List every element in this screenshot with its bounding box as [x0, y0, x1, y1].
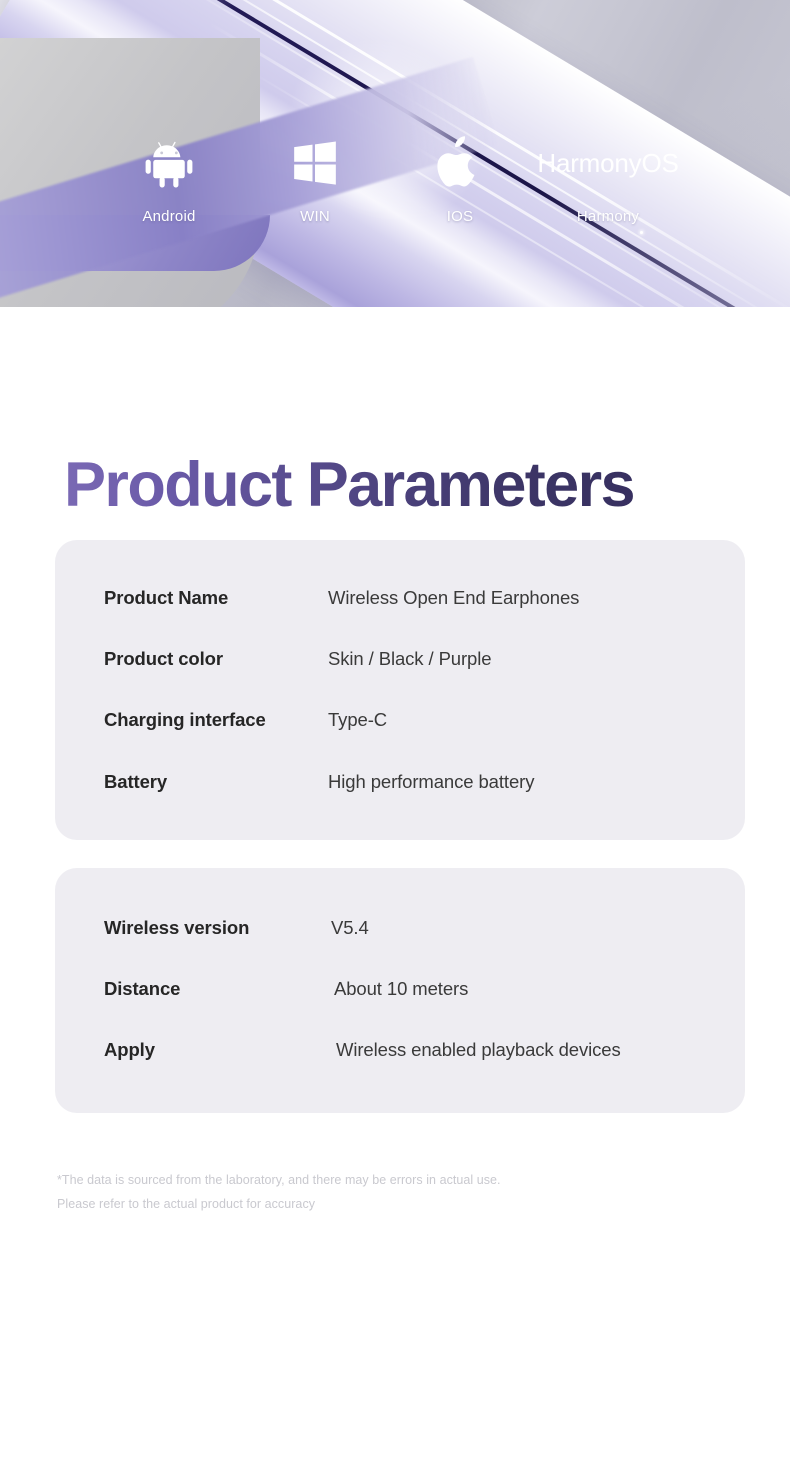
spec-card-primary: Product Name Wireless Open End Earphones… [55, 540, 745, 840]
spec-row: Charging interface Type-C [55, 706, 745, 734]
spec-value: About 10 meters [334, 978, 468, 1000]
spec-row: Apply Wireless enabled playback devices [55, 1036, 745, 1064]
spec-label: Distance [104, 978, 180, 1000]
spec-row: Battery High performance battery [55, 768, 745, 796]
spec-label: Product Name [104, 587, 228, 609]
spec-value: Wireless enabled playback devices [336, 1039, 621, 1061]
spec-card-secondary: Wireless version V5.4 Distance About 10 … [55, 868, 745, 1113]
os-item-ios: IOS [385, 132, 535, 225]
spec-value: High performance battery [328, 771, 534, 793]
os-item-harmony: HarmonyOS Harmony [533, 132, 683, 225]
spec-row: Product color Skin / Black / Purple [55, 645, 745, 673]
spec-row: Distance About 10 meters [55, 975, 745, 1003]
os-item-windows: WIN [240, 132, 390, 225]
os-label-android: Android [94, 208, 244, 225]
spec-label: Wireless version [104, 917, 249, 939]
spec-label: Apply [104, 1039, 155, 1061]
spec-label: Battery [104, 771, 167, 793]
android-icon [94, 132, 244, 194]
os-item-android: Android [94, 132, 244, 225]
os-label-harmony: Harmony [533, 208, 683, 225]
os-label-windows: WIN [240, 208, 390, 225]
spec-value: V5.4 [331, 917, 369, 939]
spec-row: Product Name Wireless Open End Earphones [55, 584, 745, 612]
spec-value: Type-C [328, 709, 387, 731]
harmonyos-wordmark-text: HarmonyOS [537, 148, 678, 179]
os-compatibility-row: Android WIN [0, 132, 790, 242]
spec-value: Wireless Open End Earphones [328, 587, 579, 609]
spec-label: Product color [104, 648, 223, 670]
disclaimer-line-2: Please refer to the actual product for a… [57, 1192, 717, 1216]
windows-icon [240, 132, 390, 194]
hero-banner: Android WIN [0, 0, 790, 307]
spec-label: Charging interface [104, 709, 266, 731]
spec-value: Skin / Black / Purple [328, 648, 491, 670]
spec-row: Wireless version V5.4 [55, 914, 745, 942]
page-title: Product Parameters [64, 454, 634, 517]
harmonyos-wordmark-icon: HarmonyOS [533, 132, 683, 194]
apple-icon [385, 132, 535, 194]
os-label-ios: IOS [385, 208, 535, 225]
disclaimer-footnote: *The data is sourced from the laboratory… [57, 1168, 717, 1216]
disclaimer-line-1: *The data is sourced from the laboratory… [57, 1168, 717, 1192]
